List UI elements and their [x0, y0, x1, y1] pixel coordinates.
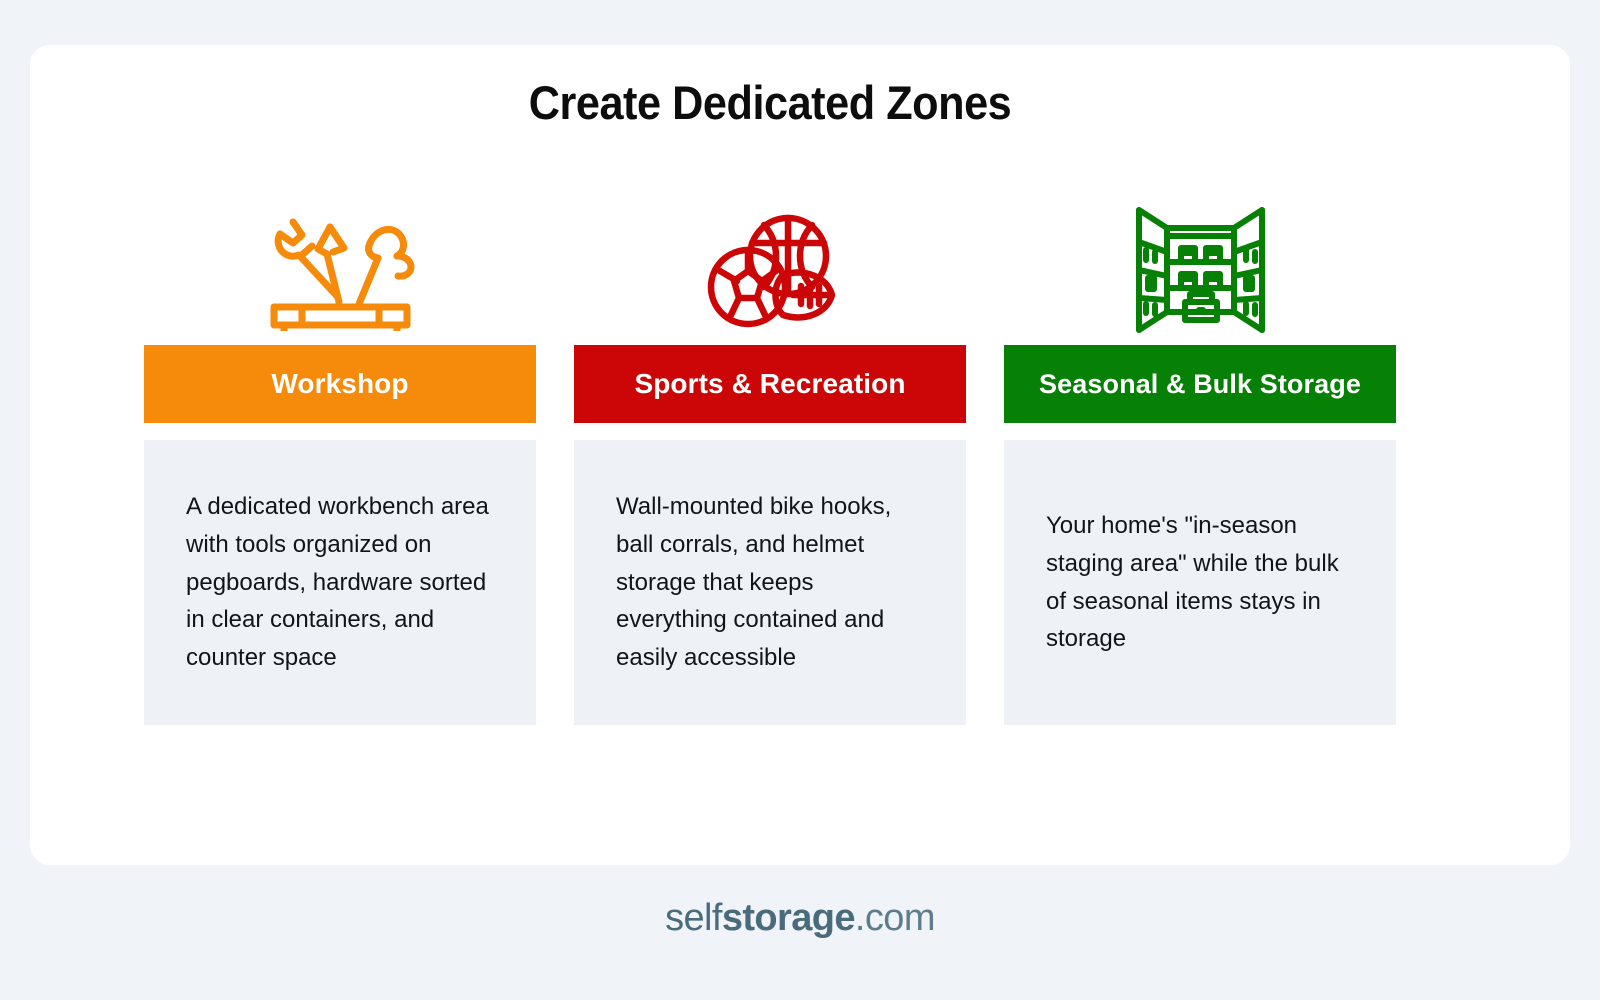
zone-column-seasonal-bulk-storage: Seasonal & Bulk Storage Your home's "in-…	[985, 195, 1415, 725]
zone-header-workshop: Workshop	[144, 345, 536, 423]
zone-body-sports-recreation: Wall-mounted bike hooks, ball corrals, a…	[574, 440, 966, 725]
brand-self: self	[665, 897, 722, 939]
infographic-root: Create Dedicated Zones	[0, 0, 1600, 1000]
toolbox-icon	[258, 195, 423, 345]
zone-body-text: Your home's "in-season staging area" whi…	[1046, 507, 1354, 658]
page-title: Create Dedicated Zones	[62, 75, 1479, 130]
zone-body-text: Wall-mounted bike hooks, ball corrals, a…	[616, 488, 924, 676]
zone-header-sports-recreation: Sports & Recreation	[574, 345, 966, 423]
zone-body-workshop: A dedicated workbench area with tools or…	[144, 440, 536, 725]
zone-body-text: A dedicated workbench area with tools or…	[186, 488, 494, 676]
brand-logo: selfstorage.com	[0, 897, 1600, 940]
zones-row: Workshop A dedicated workbench area with…	[125, 195, 1415, 725]
zone-column-workshop: Workshop A dedicated workbench area with…	[125, 195, 555, 725]
storage-unit-shelves-icon	[1133, 195, 1268, 345]
brand-storage: storage	[722, 897, 855, 939]
sports-balls-icon	[700, 195, 840, 345]
zone-header-seasonal-bulk-storage: Seasonal & Bulk Storage	[1004, 345, 1396, 423]
zone-column-sports-recreation: Sports & Recreation Wall-mounted bike ho…	[555, 195, 985, 725]
brand-dotcom: .com	[855, 897, 935, 939]
zone-body-seasonal-bulk-storage: Your home's "in-season staging area" whi…	[1004, 440, 1396, 725]
